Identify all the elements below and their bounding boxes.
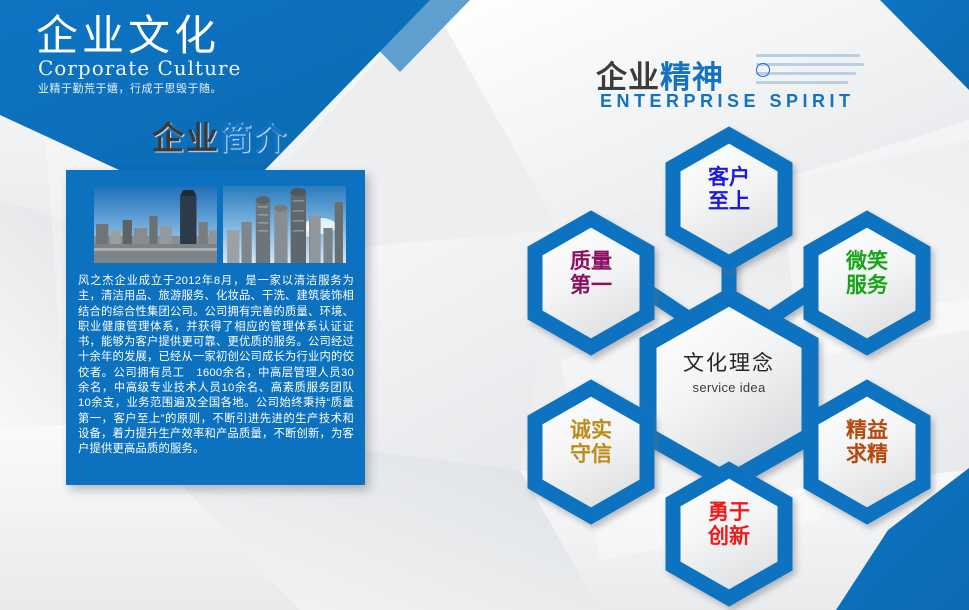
decorative-text-lines [756,54,866,84]
photo-strip [94,186,346,263]
intro-heading-blue: 简介 [220,120,288,156]
hexagon-upper-left [535,219,647,347]
slide-canvas: 企业文化 Corporate Culture 业精于勤荒于嬉，行成于思毁于随。 … [0,0,969,610]
banner-motto: 业精于勤荒于嬉，行成于思毁于随。 [38,80,222,96]
city-skyline-photo [94,186,217,263]
enterprise-spirit-heading: 企业精神 ENTERPRISE SPIRIT [596,52,926,112]
intro-heading-dark: 企业 [152,120,220,156]
hexagon-top [673,135,785,263]
banner-title-cn: 企业文化 [36,14,220,58]
spirit-heading-dark: 企业 [596,60,660,95]
hexagon-lower-right [811,388,923,516]
spirit-heading-en: ENTERPRISE SPIRIT [600,91,855,112]
company-intro-text: 风之杰企业成立于2012年8月，是一家以清洁服务为主，清洁用品、旅游服务、化妆品… [78,274,354,458]
hexagon-upper-right [811,219,923,347]
hexagon-lower-left [535,388,647,516]
skyscraper-photo [223,186,346,263]
hexagon-svg [490,118,969,610]
hexagon-center [648,297,810,482]
hexagon-bottom [673,470,785,598]
spirit-heading-blue: 精神 [660,60,724,95]
circle-accent-icon [756,63,770,77]
company-intro-card: 风之杰企业成立于2012年8月，是一家以清洁服务为主，清洁用品、旅游服务、化妆品… [66,170,365,485]
banner-title-en: Corporate Culture [38,56,241,80]
intro-heading: 企业简介 [152,113,288,159]
culture-hexagon-diagram: 文化理念 service idea 客户至上 质量第一 微笑服务 诚实守信 精益… [490,118,969,610]
